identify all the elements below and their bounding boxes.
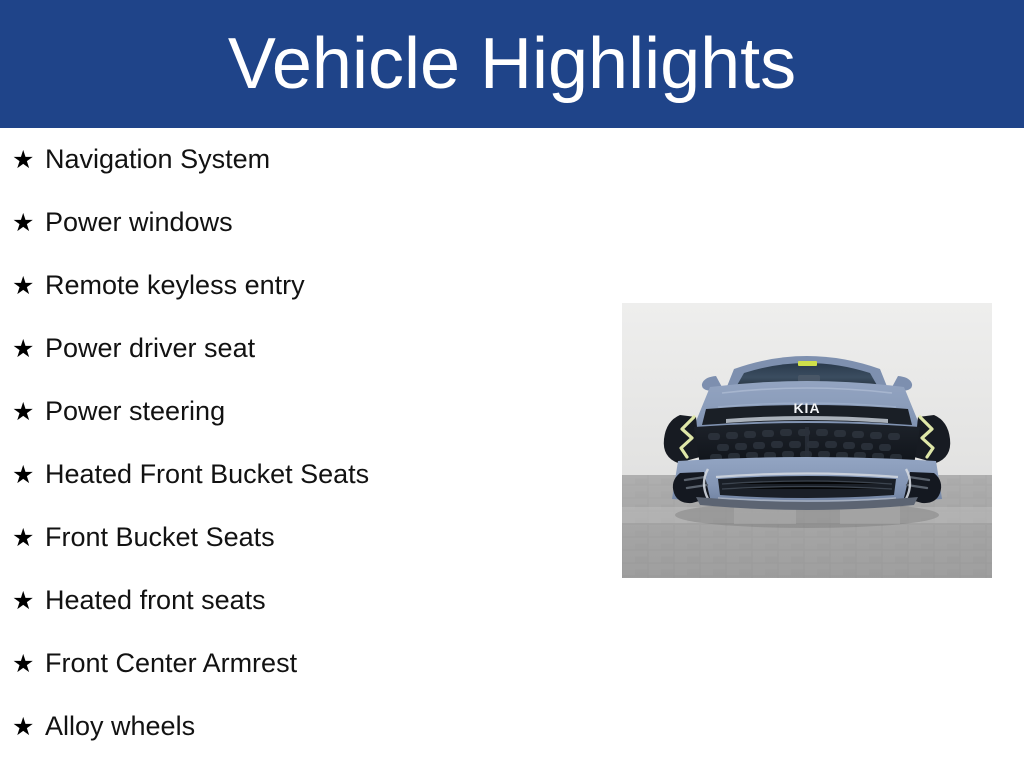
list-item: ★ Front Bucket Seats bbox=[0, 506, 600, 569]
list-item-label: Front Bucket Seats bbox=[34, 524, 275, 551]
star-bullet-icon: ★ bbox=[12, 714, 34, 739]
vehicle-highlights-list: ★ Navigation System ★ Power windows ★ Re… bbox=[0, 128, 600, 758]
page-title: Vehicle Highlights bbox=[228, 28, 796, 100]
vehicle-photo-image: KIA bbox=[622, 303, 992, 578]
star-bullet-icon: ★ bbox=[12, 147, 34, 172]
list-item-label: Alloy wheels bbox=[34, 713, 195, 740]
star-bullet-icon: ★ bbox=[12, 399, 34, 424]
list-item-label: Remote keyless entry bbox=[34, 272, 305, 299]
list-item: ★ Power windows bbox=[0, 191, 600, 254]
list-item-label: Power steering bbox=[34, 398, 225, 425]
list-item: ★ Alloy wheels bbox=[0, 695, 600, 758]
list-item: ★ Power steering bbox=[0, 380, 600, 443]
list-item: ★ Heated front seats bbox=[0, 569, 600, 632]
list-item: ★ Front Center Armrest bbox=[0, 632, 600, 695]
list-item-label: Heated front seats bbox=[34, 587, 266, 614]
list-item-label: Power windows bbox=[34, 209, 233, 236]
list-item-label: Power driver seat bbox=[34, 335, 255, 362]
star-bullet-icon: ★ bbox=[12, 462, 34, 487]
kia-badge-text: KIA bbox=[793, 400, 820, 416]
star-bullet-icon: ★ bbox=[12, 336, 34, 361]
list-item: ★ Power driver seat bbox=[0, 317, 600, 380]
star-bullet-icon: ★ bbox=[12, 588, 34, 613]
list-item: ★ Remote keyless entry bbox=[0, 254, 600, 317]
main-content: ★ Navigation System ★ Power windows ★ Re… bbox=[0, 128, 1024, 768]
list-item: ★ Navigation System bbox=[0, 128, 600, 191]
star-bullet-icon: ★ bbox=[12, 651, 34, 676]
header-banner: Vehicle Highlights bbox=[0, 0, 1024, 128]
list-item-label: Navigation System bbox=[34, 146, 270, 173]
list-item: ★ Heated Front Bucket Seats bbox=[0, 443, 600, 506]
list-item-label: Front Center Armrest bbox=[34, 650, 297, 677]
star-bullet-icon: ★ bbox=[12, 273, 34, 298]
list-item-label: Heated Front Bucket Seats bbox=[34, 461, 369, 488]
star-bullet-icon: ★ bbox=[12, 210, 34, 235]
vehicle-photo: KIA bbox=[622, 303, 992, 578]
star-bullet-icon: ★ bbox=[12, 525, 34, 550]
